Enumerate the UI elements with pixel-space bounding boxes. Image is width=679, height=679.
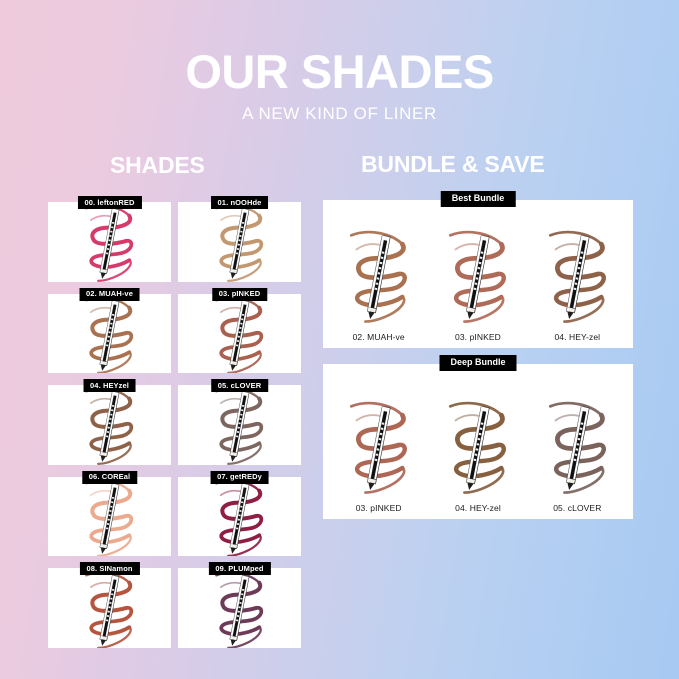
bundle-item[interactable]: 03. pINKED: [430, 223, 526, 342]
bundle-swatch: [538, 223, 617, 327]
bundle-row: 03. pINKED: [329, 374, 627, 513]
shade-swatch-art: [206, 294, 273, 374]
bundle-item-label: 05. cLOVER: [553, 503, 601, 513]
shade-cell[interactable]: 06. COREal: [48, 471, 171, 557]
page-title: OUR SHADES: [0, 48, 679, 95]
hero-header: OUR SHADES A NEW KIND OF LINER: [0, 48, 679, 124]
bundle-swatch: [438, 223, 517, 327]
shade-swatch: [178, 477, 301, 557]
shade-cell[interactable]: 09. PLUMped: [178, 562, 301, 648]
bundle-badge: Deep Bundle: [439, 355, 516, 371]
shade-cell[interactable]: 04. HEYzel: [48, 379, 171, 465]
bundle-section-heading: BUNDLE & SAVE: [361, 151, 545, 178]
shade-cell[interactable]: 05. cLOVER: [178, 379, 301, 465]
shade-swatch-art: [76, 294, 143, 374]
bundle-swatch: [339, 223, 418, 327]
shade-swatch-art: [438, 394, 517, 498]
shades-section-heading: SHADES: [110, 152, 205, 179]
shade-swatch: [48, 568, 171, 648]
shade-swatch: [178, 568, 301, 648]
shade-swatch-art: [76, 477, 143, 557]
bundle-item-label: 03. pINKED: [455, 332, 501, 342]
shade-swatch: [48, 385, 171, 465]
shade-swatch-art: [538, 223, 617, 327]
shade-swatch: [178, 385, 301, 465]
shade-label-badge: 07. getREDy: [210, 471, 269, 484]
bundle-item[interactable]: 05. cLOVER: [529, 394, 625, 513]
shade-swatch: [178, 294, 301, 374]
shade-swatch-art: [76, 385, 143, 465]
bundle-item[interactable]: 04. HEY-zel: [529, 223, 625, 342]
page-subtitle: A NEW KIND OF LINER: [0, 104, 679, 124]
bundle-item-label: 04. HEY-zel: [455, 503, 501, 513]
shade-swatch-art: [76, 568, 143, 648]
shade-label-badge: 02. MUAH-ve: [79, 288, 140, 301]
shade-cell[interactable]: 08. SINamon: [48, 562, 171, 648]
shade-label-badge: 04. HEYzel: [83, 379, 136, 392]
shade-swatch-art: [206, 202, 273, 282]
bundle-swatch: [438, 394, 517, 498]
bundle-row: 02. MUAH-ve: [329, 210, 627, 342]
bundle-item[interactable]: 02. MUAH-ve: [331, 223, 427, 342]
shade-label-badge: 09. PLUMped: [208, 562, 270, 575]
shade-swatch-art: [538, 394, 617, 498]
shade-cell[interactable]: 07. getREDy: [178, 471, 301, 557]
shade-swatch: [48, 202, 171, 282]
shade-cell[interactable]: 00. leftonRED: [48, 196, 171, 282]
shade-label-badge: 08. SINamon: [79, 562, 139, 575]
shade-label-badge: 01. nOOHde: [211, 196, 269, 209]
shade-cell[interactable]: 01. nOOHde: [178, 196, 301, 282]
bundle-badge: Best Bundle: [441, 191, 516, 207]
shade-swatch-art: [339, 394, 418, 498]
product-shade-chart: OUR SHADES A NEW KIND OF LINER SHADES BU…: [0, 0, 679, 679]
bundle-item[interactable]: 03. pINKED: [331, 394, 427, 513]
shade-label-badge: 03. pINKED: [212, 288, 267, 301]
bundle-swatch: [339, 394, 418, 498]
shade-cell[interactable]: 02. MUAH-ve: [48, 288, 171, 374]
shade-swatch-art: [206, 477, 273, 557]
bundle-item[interactable]: 04. HEY-zel: [430, 394, 526, 513]
bundle-panel-best[interactable]: Best Bundle: [323, 200, 633, 348]
shade-swatch-art: [76, 202, 143, 282]
shade-swatch-art: [206, 568, 273, 648]
shade-swatch-art: [438, 223, 517, 327]
shade-swatch: [48, 477, 171, 557]
bundle-item-label: 04. HEY-zel: [554, 332, 600, 342]
shade-swatch-art: [339, 223, 418, 327]
shade-cell[interactable]: 03. pINKED: [178, 288, 301, 374]
shades-grid: 00. leftonRED: [48, 196, 301, 648]
shade-swatch: [178, 202, 301, 282]
bundle-item-label: 03. pINKED: [356, 503, 402, 513]
shade-swatch: [48, 294, 171, 374]
shade-label-badge: 06. COREal: [82, 471, 137, 484]
shade-label-badge: 05. cLOVER: [211, 379, 269, 392]
bundle-swatch: [538, 394, 617, 498]
bundle-panel-deep[interactable]: Deep Bundle: [323, 364, 633, 519]
shade-label-badge: 00. leftonRED: [77, 196, 141, 209]
bundle-item-label: 02. MUAH-ve: [353, 332, 405, 342]
shade-swatch-art: [206, 385, 273, 465]
